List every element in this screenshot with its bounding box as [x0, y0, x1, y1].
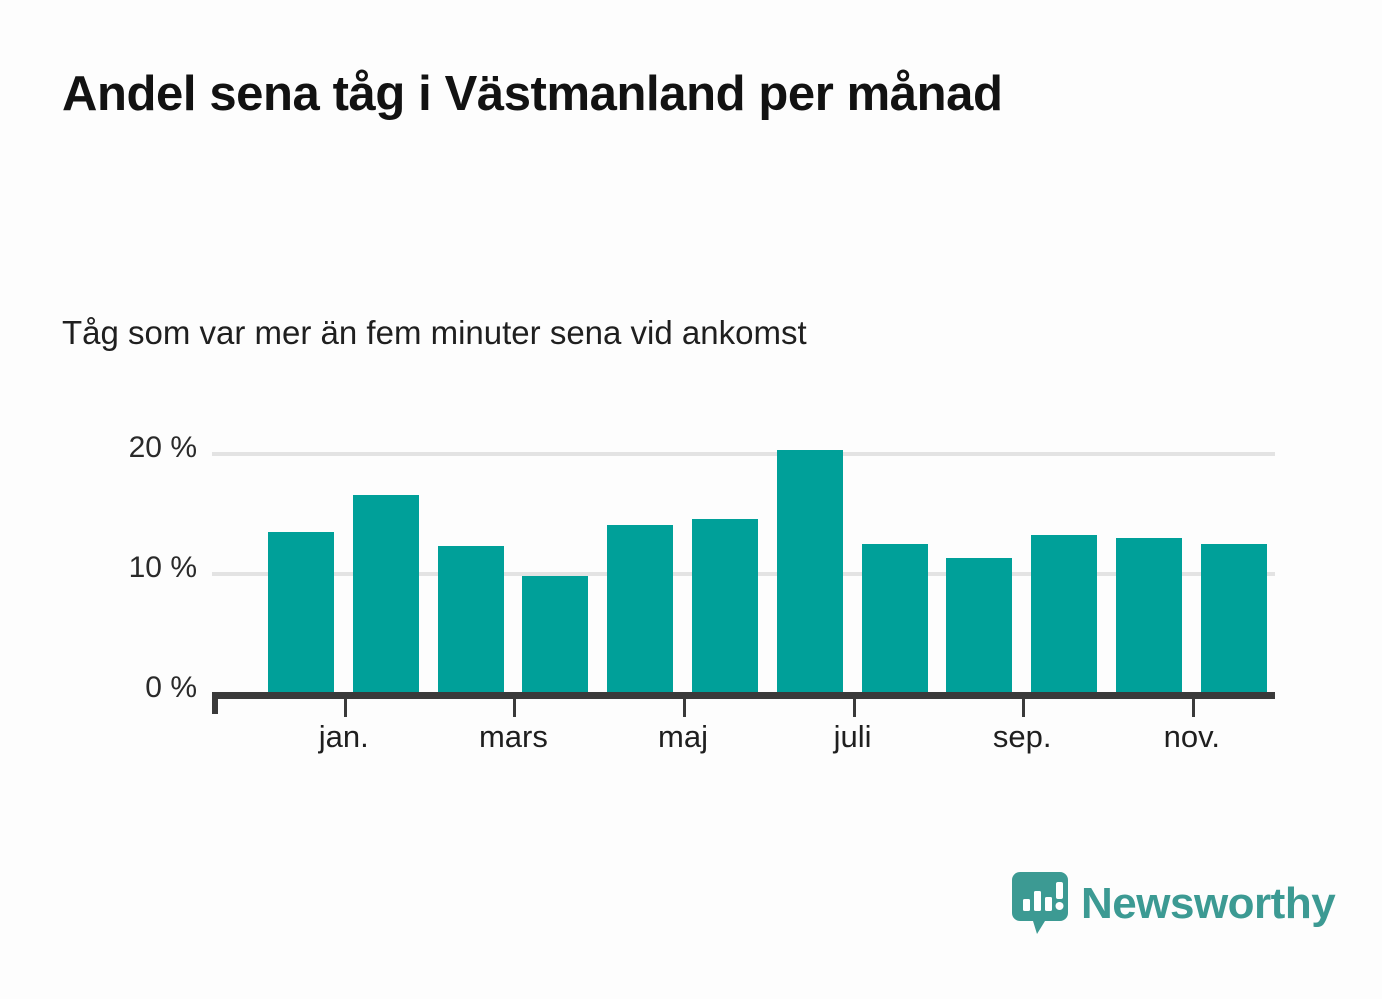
bar-feb.[interactable] [438, 546, 504, 692]
page-title: Andel sena tåg i Västmanland per månad [62, 66, 1182, 124]
x-tick-label-jan.: jan. [264, 719, 424, 755]
bar-apr.[interactable] [607, 525, 673, 692]
bar-nov.[interactable] [1201, 544, 1267, 692]
bar-juli[interactable] [862, 544, 928, 692]
newsworthy-wordmark: Newsworthy [1081, 882, 1335, 926]
x-tick-label-sep.: sep. [942, 719, 1102, 755]
bar-juni[interactable] [777, 450, 843, 692]
bar-jan.[interactable] [353, 495, 419, 692]
page-subtitle: Tåg som var mer än fem minuter sena vid … [62, 313, 1262, 353]
x-tick-nov. [1192, 699, 1195, 717]
bar-mars[interactable] [522, 576, 588, 692]
x-tick-maj [683, 699, 686, 717]
gridline-20 [212, 452, 1275, 456]
x-tick-jan. [344, 699, 347, 717]
chart-gridlines [212, 440, 1275, 696]
y-tick-label: 0 % [67, 671, 197, 705]
bar-sep.[interactable] [1031, 535, 1097, 692]
y-axis-origin-cap [212, 692, 218, 714]
x-tick-label-juli: juli [773, 719, 933, 755]
bar-maj[interactable] [692, 519, 758, 692]
y-tick-label: 20 % [67, 431, 197, 465]
x-tick-mars [513, 699, 516, 717]
chart-page: Andel sena tåg i Västmanland per månad T… [0, 0, 1382, 999]
newsworthy-mark-icon [1012, 872, 1068, 935]
x-tick-label-mars: mars [433, 719, 593, 755]
x-tick-label-nov.: nov. [1112, 719, 1272, 755]
x-tick-sep. [1022, 699, 1025, 717]
x-axis-line [212, 692, 1275, 699]
bar-chart: 20 %10 %0 % jan.marsmajjulisep.nov. [0, 0, 1382, 999]
bar-okt.[interactable] [1116, 538, 1182, 692]
x-tick-label-maj: maj [603, 719, 763, 755]
gridline-10 [212, 572, 1275, 576]
y-tick-label: 10 % [67, 551, 197, 585]
x-tick-juli [853, 699, 856, 717]
chart-bars [212, 440, 1275, 692]
bar-dec.[interactable] [268, 532, 334, 692]
bar-aug.[interactable] [946, 558, 1012, 692]
newsworthy-logo: Newsworthy [1012, 872, 1335, 935]
